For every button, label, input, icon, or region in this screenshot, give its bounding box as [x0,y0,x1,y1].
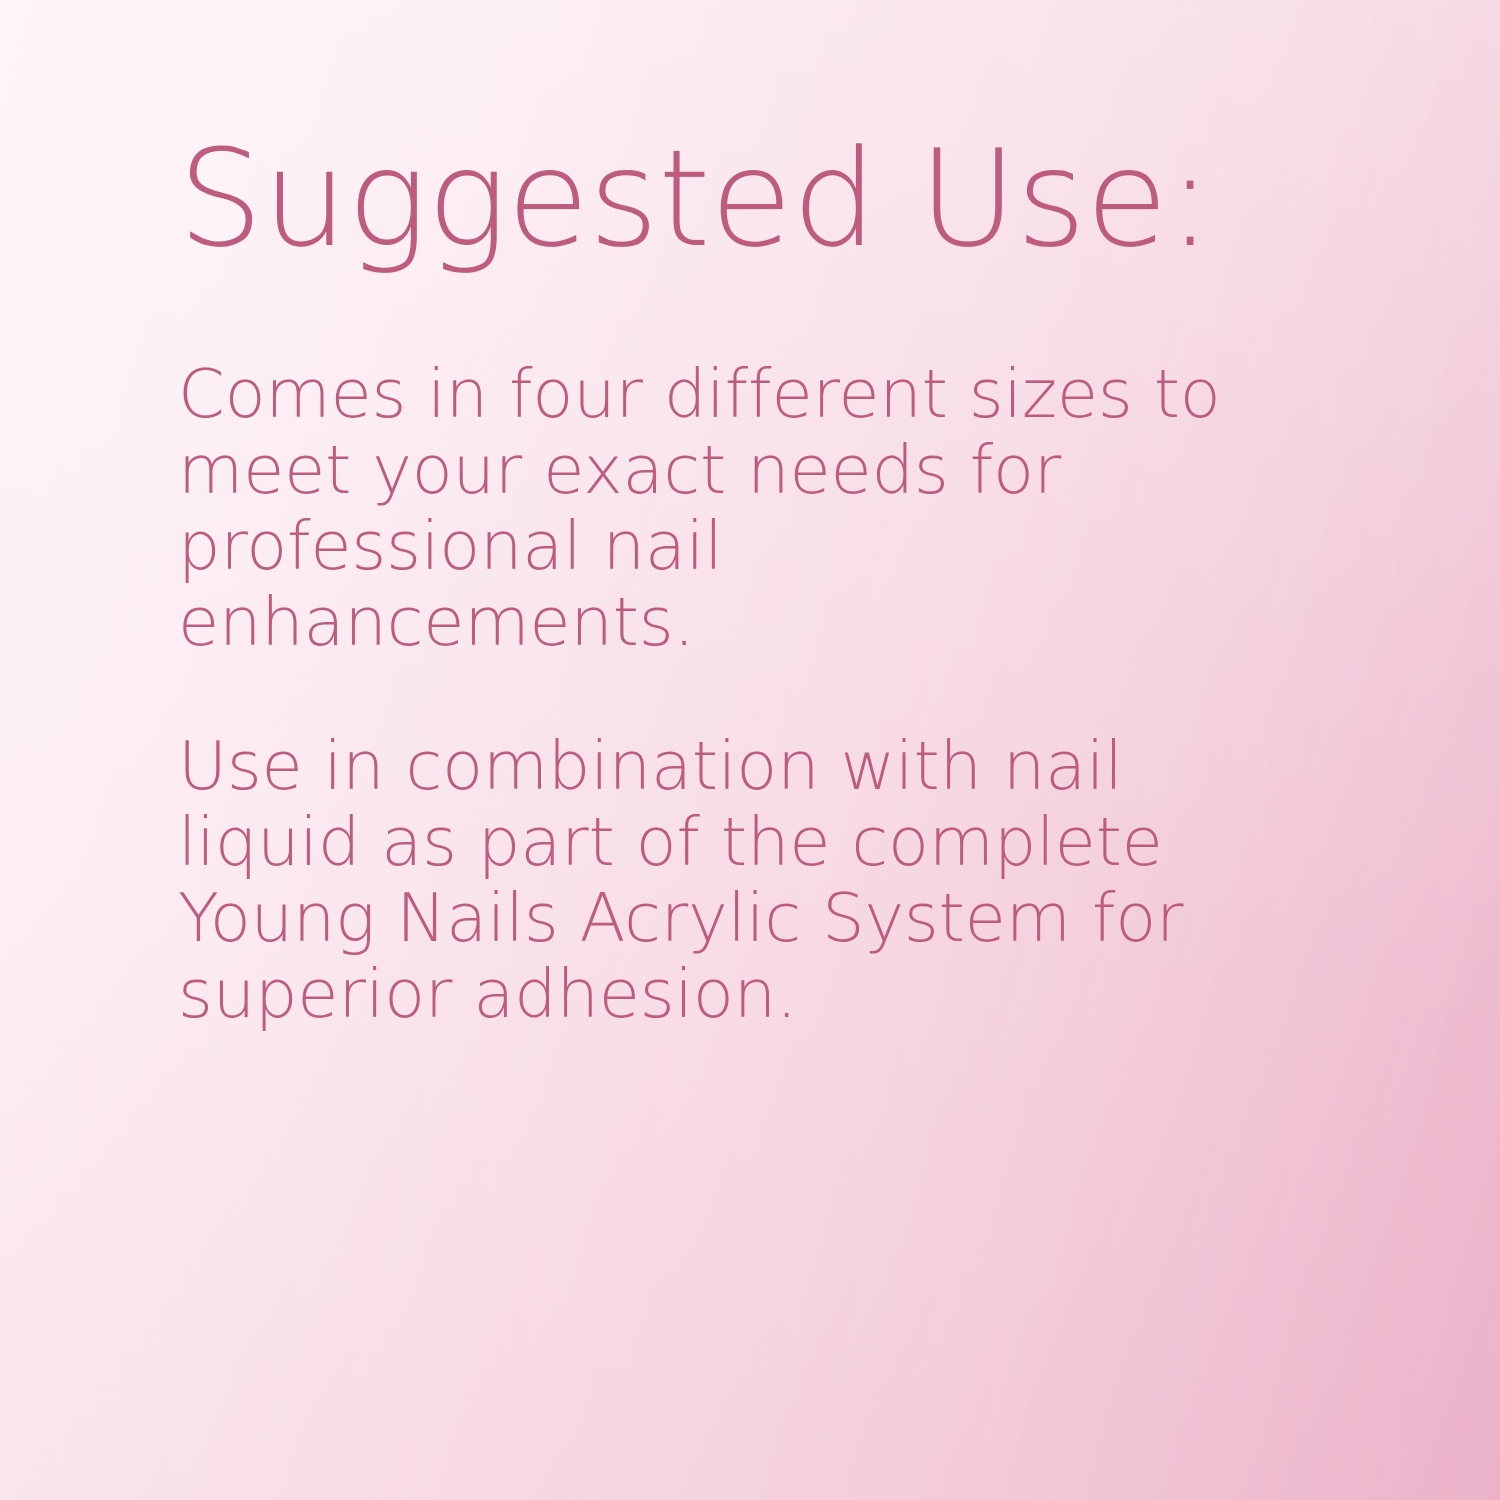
page-title: Suggested Use: [178,128,1253,270]
content-area: Suggested Use: Comes in four different s… [178,128,1253,1032]
body-paragraph-usage: Use in combination with nail liquid as p… [178,728,1253,1032]
body-paragraph-sizes: Comes in four different sizes to meet yo… [178,356,1253,660]
product-info-card: Suggested Use: Comes in four different s… [0,0,1500,1500]
body-text-block: Comes in four different sizes to meet yo… [178,356,1253,1032]
